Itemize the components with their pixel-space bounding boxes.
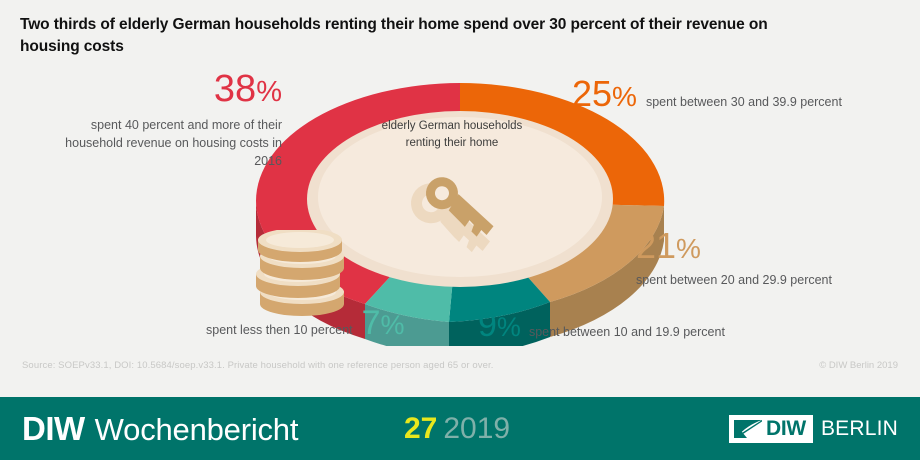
diw-berlin-logo: DIW BERLIN (729, 415, 898, 443)
berlin-logo-text: BERLIN (821, 417, 898, 441)
callout-21-percent: 21% spent between 20 and 29.9 percent (636, 228, 832, 289)
donut-center-label: elderly German households renting their … (352, 118, 552, 151)
footer-bar: DIW Wochenbericht 27 2019 DIW BERLIN (0, 397, 920, 460)
footer-brand-diw: DIW (22, 410, 85, 448)
callout-38-percent: 38% spent 40 percent and more of their h… (52, 70, 282, 170)
callout-25-description: spent between 30 and 39.9 percent (646, 93, 842, 111)
callout-25-value: 25% (572, 76, 637, 112)
footer-issue-number: 27 (404, 412, 437, 446)
callout-21-description: spent between 20 and 29.9 percent (636, 271, 832, 289)
donut-chart: elderly German households renting their … (0, 48, 920, 348)
callout-7-description: spent less then 10 percent (206, 321, 353, 339)
center-label-line-1: elderly German households (352, 118, 552, 135)
callout-25-percent: 25% spent between 30 and 39.9 percent (572, 76, 842, 112)
footer-issue-year: 2019 (443, 412, 510, 446)
source-note: Source: SOEPv33.1, DOI: 10.5684/soep.v33… (22, 360, 493, 371)
callout-7-percent: spent less then 10 percent 7% (206, 306, 405, 340)
diw-logo-text: DIW (766, 417, 806, 441)
callout-7-value: 7% (362, 306, 405, 340)
callout-38-value: 38% (52, 70, 282, 108)
diw-swoosh-icon (733, 418, 763, 440)
footer-issue: 27 2019 (404, 412, 510, 446)
callout-21-value: 21% (636, 228, 832, 264)
footer-brand: DIW Wochenbericht (22, 410, 298, 448)
callout-9-value: 9% (478, 308, 521, 342)
center-label-line-2: renting their home (352, 135, 552, 152)
callout-38-description: spent 40 percent and more of their house… (52, 116, 282, 170)
callout-9-description: spent between 10 and 19.9 percent (529, 323, 725, 341)
diw-logo-mark-box: DIW (729, 415, 813, 443)
footer-brand-wochenbericht: Wochenbericht (95, 412, 299, 448)
callout-9-percent: 9% spent between 10 and 19.9 percent (478, 308, 725, 342)
copyright-note: © DIW Berlin 2019 (819, 360, 898, 371)
